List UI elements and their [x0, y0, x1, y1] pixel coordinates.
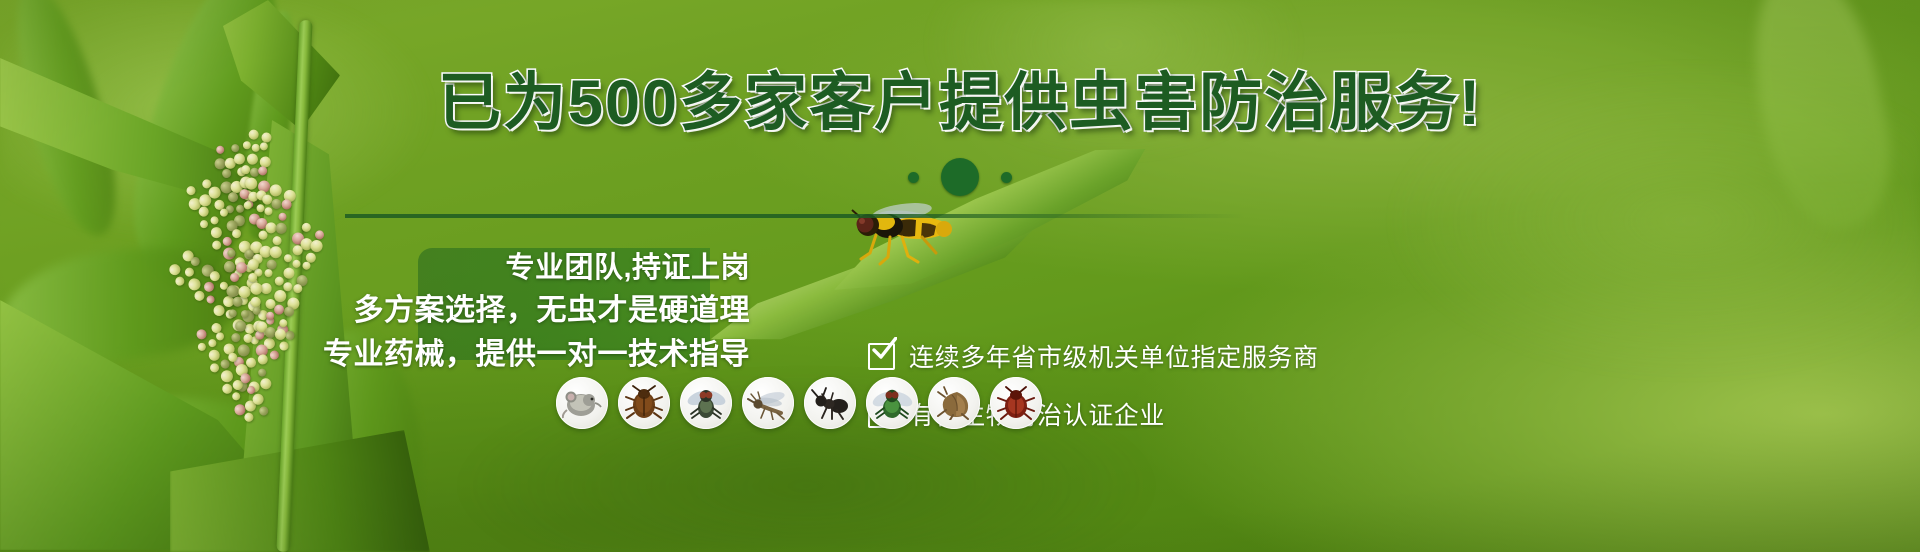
- greenfly-icon[interactable]: [866, 377, 918, 429]
- feature-line-3: 专业药械，提供一对一技术指导: [323, 338, 750, 372]
- credential-bullet-1-label: 连续多年省市级机关单位指定服务商: [909, 338, 1319, 374]
- dot-small-right: [1001, 172, 1012, 183]
- dot-small-left: [908, 172, 919, 183]
- mouse-icon[interactable]: [556, 377, 608, 429]
- housefly-icon[interactable]: [680, 377, 732, 429]
- headline-dot-divider: [0, 158, 1920, 196]
- bedbug-icon[interactable]: [990, 377, 1042, 429]
- checkbox-check-icon: [868, 343, 895, 370]
- dot-large-center: [941, 158, 979, 196]
- feature-line-2: 多方案选择，无虫才是硬道理: [354, 294, 751, 328]
- ant-icon[interactable]: [804, 377, 856, 429]
- divider-rule: [345, 214, 1245, 218]
- mosquito-icon[interactable]: [742, 377, 794, 429]
- pest-icon-row: [556, 377, 1042, 429]
- hoverfly-illustration: [840, 195, 970, 275]
- cockroach-icon[interactable]: [618, 377, 670, 429]
- feature-panel: 专业团队,持证上岗 多方案选择，无虫才是硬道理 专业药械，提供一对一技术指导: [330, 252, 750, 372]
- credential-bullet-1: 连续多年省市级机关单位指定服务商: [868, 338, 1319, 374]
- feature-line-1: 专业团队,持证上岗: [505, 252, 750, 284]
- pest-control-hero-banner: 已为500多家客户提供虫害防治服务! 专业团队,持证上岗 多方案选择，无虫才是硬…: [0, 0, 1920, 552]
- flea-icon[interactable]: [928, 377, 980, 429]
- banner-headline-text: 已为500多家客户提供虫害防治服务!: [438, 68, 1482, 138]
- banner-headline: 已为500多家客户提供虫害防治服务!: [0, 72, 1920, 135]
